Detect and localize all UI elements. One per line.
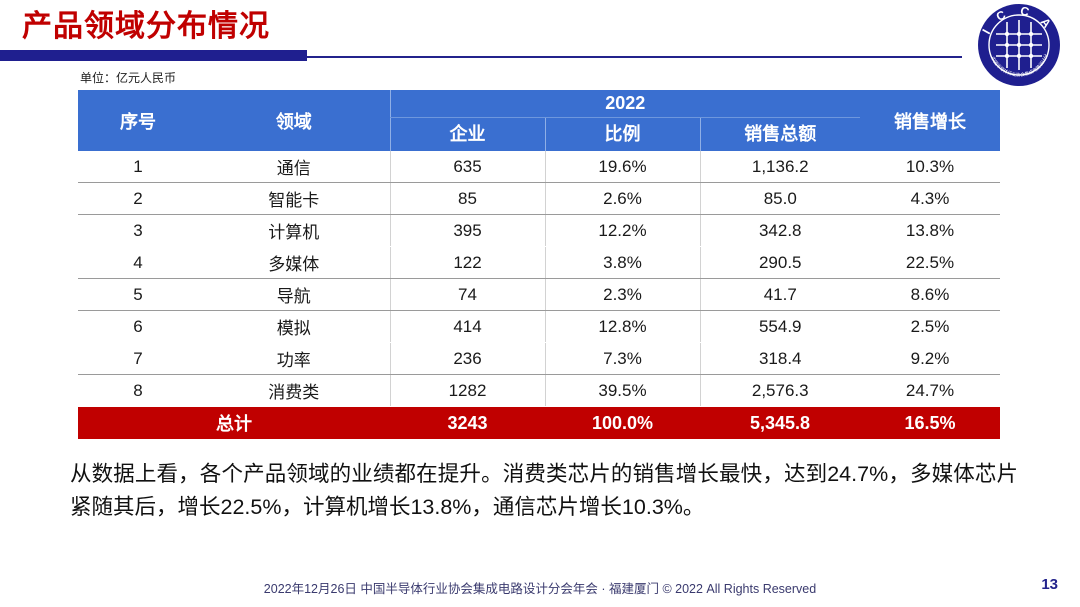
cell-sales-growth: 24.7% xyxy=(860,375,1000,407)
cell-sales-growth: 4.3% xyxy=(860,183,1000,215)
table-row: 1通信63519.6%1,136.210.3% xyxy=(78,151,1000,183)
footer-text: 2022年12月26日 中国半导体行业协会集成电路设计分会年会 · 福建厦门 ©… xyxy=(0,578,1080,597)
cell-sales-total: 85.0 xyxy=(700,183,860,215)
cell-no: 2 xyxy=(78,183,198,215)
title-underline-thick xyxy=(0,50,307,61)
title-underline-thin xyxy=(307,56,962,58)
iccad-logo-icon: I C C A D 中国半导体行业协会集成电路设计分会 xyxy=(976,2,1062,88)
cell-sales-growth: 2.5% xyxy=(860,311,1000,343)
col-header-sales-total: 销售总额 xyxy=(700,118,860,152)
table-total-row: 总计3243100.0%5,345.816.5% xyxy=(78,407,1000,440)
cell-sales-growth: 8.6% xyxy=(860,279,1000,311)
table-row: 3计算机39512.2%342.813.8% xyxy=(78,215,1000,247)
cell-field: 智能卡 xyxy=(198,183,390,215)
table-header: 序号 领域 2022 销售增长 企业 比例 销售总额 xyxy=(78,90,1000,151)
cell-sales-growth: 10.3% xyxy=(860,151,1000,183)
cell-enterprises: 85 xyxy=(390,183,545,215)
cell-enterprises: 395 xyxy=(390,215,545,247)
cell-enterprises: 236 xyxy=(390,343,545,375)
total-label: 总计 xyxy=(78,407,390,440)
cell-field: 计算机 xyxy=(198,215,390,247)
total-sales-growth: 16.5% xyxy=(860,407,1000,440)
total-ratio: 100.0% xyxy=(545,407,700,440)
cell-enterprises: 122 xyxy=(390,247,545,279)
product-domain-table: 序号 领域 2022 销售增长 企业 比例 销售总额 1通信63519.6%1,… xyxy=(78,90,1000,439)
table-row: 6模拟41412.8%554.92.5% xyxy=(78,311,1000,343)
col-header-no: 序号 xyxy=(78,90,198,151)
col-header-ratio: 比例 xyxy=(545,118,700,152)
cell-sales-total: 342.8 xyxy=(700,215,860,247)
table-row: 7功率2367.3%318.49.2% xyxy=(78,343,1000,375)
cell-field: 多媒体 xyxy=(198,247,390,279)
cell-ratio: 2.6% xyxy=(545,183,700,215)
cell-sales-total: 2,576.3 xyxy=(700,375,860,407)
cell-ratio: 12.8% xyxy=(545,311,700,343)
cell-ratio: 2.3% xyxy=(545,279,700,311)
unit-label: 单位：亿元人民币 xyxy=(80,69,176,86)
cell-ratio: 7.3% xyxy=(545,343,700,375)
cell-sales-growth: 9.2% xyxy=(860,343,1000,375)
table-row: 5导航742.3%41.78.6% xyxy=(78,279,1000,311)
col-header-field: 领域 xyxy=(198,90,390,151)
table-body: 1通信63519.6%1,136.210.3%2智能卡852.6%85.04.3… xyxy=(78,151,1000,439)
cell-field: 通信 xyxy=(198,151,390,183)
cell-sales-total: 554.9 xyxy=(700,311,860,343)
total-enterprises: 3243 xyxy=(390,407,545,440)
page-number: 13 xyxy=(1041,576,1058,593)
col-header-year-group: 2022 xyxy=(390,90,860,118)
cell-enterprises: 414 xyxy=(390,311,545,343)
cell-no: 4 xyxy=(78,247,198,279)
analysis-paragraph: 从数据上看，各个产品领域的业绩都在提升。消费类芯片的销售增长最快，达到24.7%… xyxy=(70,458,1018,524)
cell-no: 3 xyxy=(78,215,198,247)
cell-no: 7 xyxy=(78,343,198,375)
cell-sales-total: 41.7 xyxy=(700,279,860,311)
total-sales-total: 5,345.8 xyxy=(700,407,860,440)
cell-enterprises: 635 xyxy=(390,151,545,183)
cell-sales-growth: 22.5% xyxy=(860,247,1000,279)
cell-no: 5 xyxy=(78,279,198,311)
cell-sales-total: 290.5 xyxy=(700,247,860,279)
cell-sales-growth: 13.8% xyxy=(860,215,1000,247)
cell-no: 1 xyxy=(78,151,198,183)
col-header-sales-growth: 销售增长 xyxy=(860,90,1000,151)
cell-field: 导航 xyxy=(198,279,390,311)
cell-sales-total: 318.4 xyxy=(700,343,860,375)
col-header-enterprises: 企业 xyxy=(390,118,545,152)
cell-enterprises: 74 xyxy=(390,279,545,311)
cell-sales-total: 1,136.2 xyxy=(700,151,860,183)
table-row: 4多媒体1223.8%290.522.5% xyxy=(78,247,1000,279)
cell-enterprises: 1282 xyxy=(390,375,545,407)
page-title: 产品领域分布情况 xyxy=(22,8,270,46)
cell-ratio: 39.5% xyxy=(545,375,700,407)
cell-no: 6 xyxy=(78,311,198,343)
cell-ratio: 12.2% xyxy=(545,215,700,247)
cell-field: 功率 xyxy=(198,343,390,375)
cell-ratio: 19.6% xyxy=(545,151,700,183)
cell-field: 消费类 xyxy=(198,375,390,407)
table-row: 8消费类128239.5%2,576.324.7% xyxy=(78,375,1000,407)
cell-ratio: 3.8% xyxy=(545,247,700,279)
cell-field: 模拟 xyxy=(198,311,390,343)
table-row: 2智能卡852.6%85.04.3% xyxy=(78,183,1000,215)
cell-no: 8 xyxy=(78,375,198,407)
